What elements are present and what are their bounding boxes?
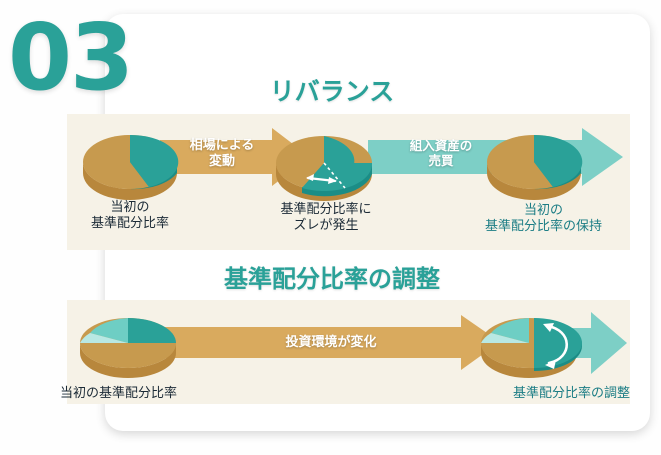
investment-environment-change-arrow-label: 投資環境が変化	[246, 335, 416, 351]
initial-allocation-caption: 当初の 基準配分比率	[60, 200, 200, 233]
restored-allocation-caption: 当初の 基準配分比率の保持	[456, 203, 631, 236]
market-fluctuation-arrow-label: 相場による 変動	[168, 138, 276, 170]
restored-allocation-pie	[484, 126, 584, 198]
adjusted-ratio-pie	[477, 306, 587, 384]
drifted-allocation-pie	[272, 126, 376, 200]
initial-ratio-caption: 当初の基準配分比率	[60, 386, 240, 402]
initial-allocation-pie	[80, 126, 180, 198]
adjusted-ratio-caption: 基準配分比率の調整	[455, 386, 630, 402]
section-title-rebalance: リバランス	[62, 72, 602, 108]
step-number: 03	[8, 12, 132, 104]
asset-trading-arrow-label: 組入資産の 売買	[386, 138, 496, 169]
drifted-allocation-caption: 基準配分比率に ズレが発生	[256, 202, 396, 235]
initial-ratio-pie	[76, 308, 180, 378]
section-title-adjustment: 基準配分比率の調整	[62, 259, 602, 294]
slide-canvas: 03 リバランス 相場による 変動 組入資産の 売買 当初の 基準配分比率	[0, 0, 661, 455]
